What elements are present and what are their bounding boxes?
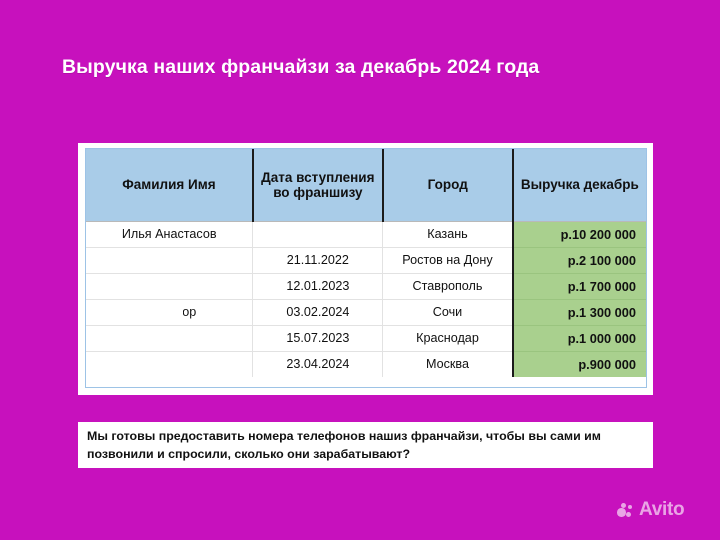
cell-name-text: Г ина — [154, 331, 185, 345]
column-header-name: Фамилия Имя — [86, 149, 253, 221]
cell-join-date: 03.02.2024 — [253, 299, 383, 325]
cell-revenue: р.1 700 000 — [513, 273, 646, 299]
table-row: Г ур 23.04.2024 Москва р.900 000 — [86, 351, 646, 377]
cell-revenue: р.900 000 — [513, 351, 646, 377]
cell-name: С лей — [86, 273, 253, 299]
cell-revenue: р.1 000 000 — [513, 325, 646, 351]
cell-city: Ростов на Дону — [383, 247, 513, 273]
cell-name-text: С лей — [152, 279, 186, 293]
cell-revenue: р.1 300 000 — [513, 299, 646, 325]
revenue-table-inner: Фамилия Имя Дата вступления во франшизу … — [85, 148, 647, 388]
column-header-city: Город — [383, 149, 513, 221]
page-title: Выручка наших франчайзи за декабрь 2024 … — [62, 56, 662, 79]
cell-name-text: К стофор — [142, 305, 196, 319]
table-header-row: Фамилия Имя Дата вступления во франшизу … — [86, 149, 646, 221]
cell-city: Казань — [383, 221, 513, 247]
table-row: К стофор 03.02.2024 Сочи р.1 300 000 — [86, 299, 646, 325]
cell-join-date — [253, 221, 383, 247]
revenue-table-frame: Фамилия Имя Дата вступления во франшизу … — [78, 143, 653, 395]
revenue-table: Фамилия Имя Дата вступления во франшизу … — [86, 149, 646, 377]
column-header-revenue: Выручка декабрь — [513, 149, 646, 221]
avito-dots-icon — [617, 501, 634, 518]
cell-city: Москва — [383, 351, 513, 377]
avito-watermark: Avito — [617, 500, 684, 519]
table-row: Ма ия 21.11.2022 Ростов на Дону р.2 100 … — [86, 247, 646, 273]
caption-text: Мы готовы предоставить номера телефонов … — [87, 428, 644, 463]
cell-revenue: р.10 200 000 — [513, 221, 646, 247]
cell-name: Ма ия — [86, 247, 253, 273]
cell-revenue: р.2 100 000 — [513, 247, 646, 273]
table-row: Г ина 15.07.2023 Краснодар р.1 000 000 — [86, 325, 646, 351]
cell-name-text: Г ур — [157, 357, 180, 371]
avito-wordmark: Avito — [639, 500, 684, 519]
column-header-join-date: Дата вступления во франшизу — [253, 149, 383, 221]
cell-name: Г ур — [86, 351, 253, 377]
cell-name-text: Ма ия — [152, 253, 187, 267]
table-row: Илья Анастасов Казань р.10 200 000 — [86, 221, 646, 247]
cell-name: К стофор — [86, 299, 253, 325]
cell-name: Г ина — [86, 325, 253, 351]
cell-join-date: 21.11.2022 — [253, 247, 383, 273]
cell-join-date: 15.07.2023 — [253, 325, 383, 351]
cell-join-date: 23.04.2024 — [253, 351, 383, 377]
caption-box: Мы готовы предоставить номера телефонов … — [78, 422, 653, 468]
table-row: С лей 12.01.2023 Ставрополь р.1 700 000 — [86, 273, 646, 299]
table-body: Илья Анастасов Казань р.10 200 000 Ма ия… — [86, 221, 646, 377]
cell-name: Илья Анастасов — [86, 221, 253, 247]
cell-city: Краснодар — [383, 325, 513, 351]
cell-join-date: 12.01.2023 — [253, 273, 383, 299]
cell-city: Сочи — [383, 299, 513, 325]
cell-city: Ставрополь — [383, 273, 513, 299]
table-header: Фамилия Имя Дата вступления во франшизу … — [86, 149, 646, 221]
